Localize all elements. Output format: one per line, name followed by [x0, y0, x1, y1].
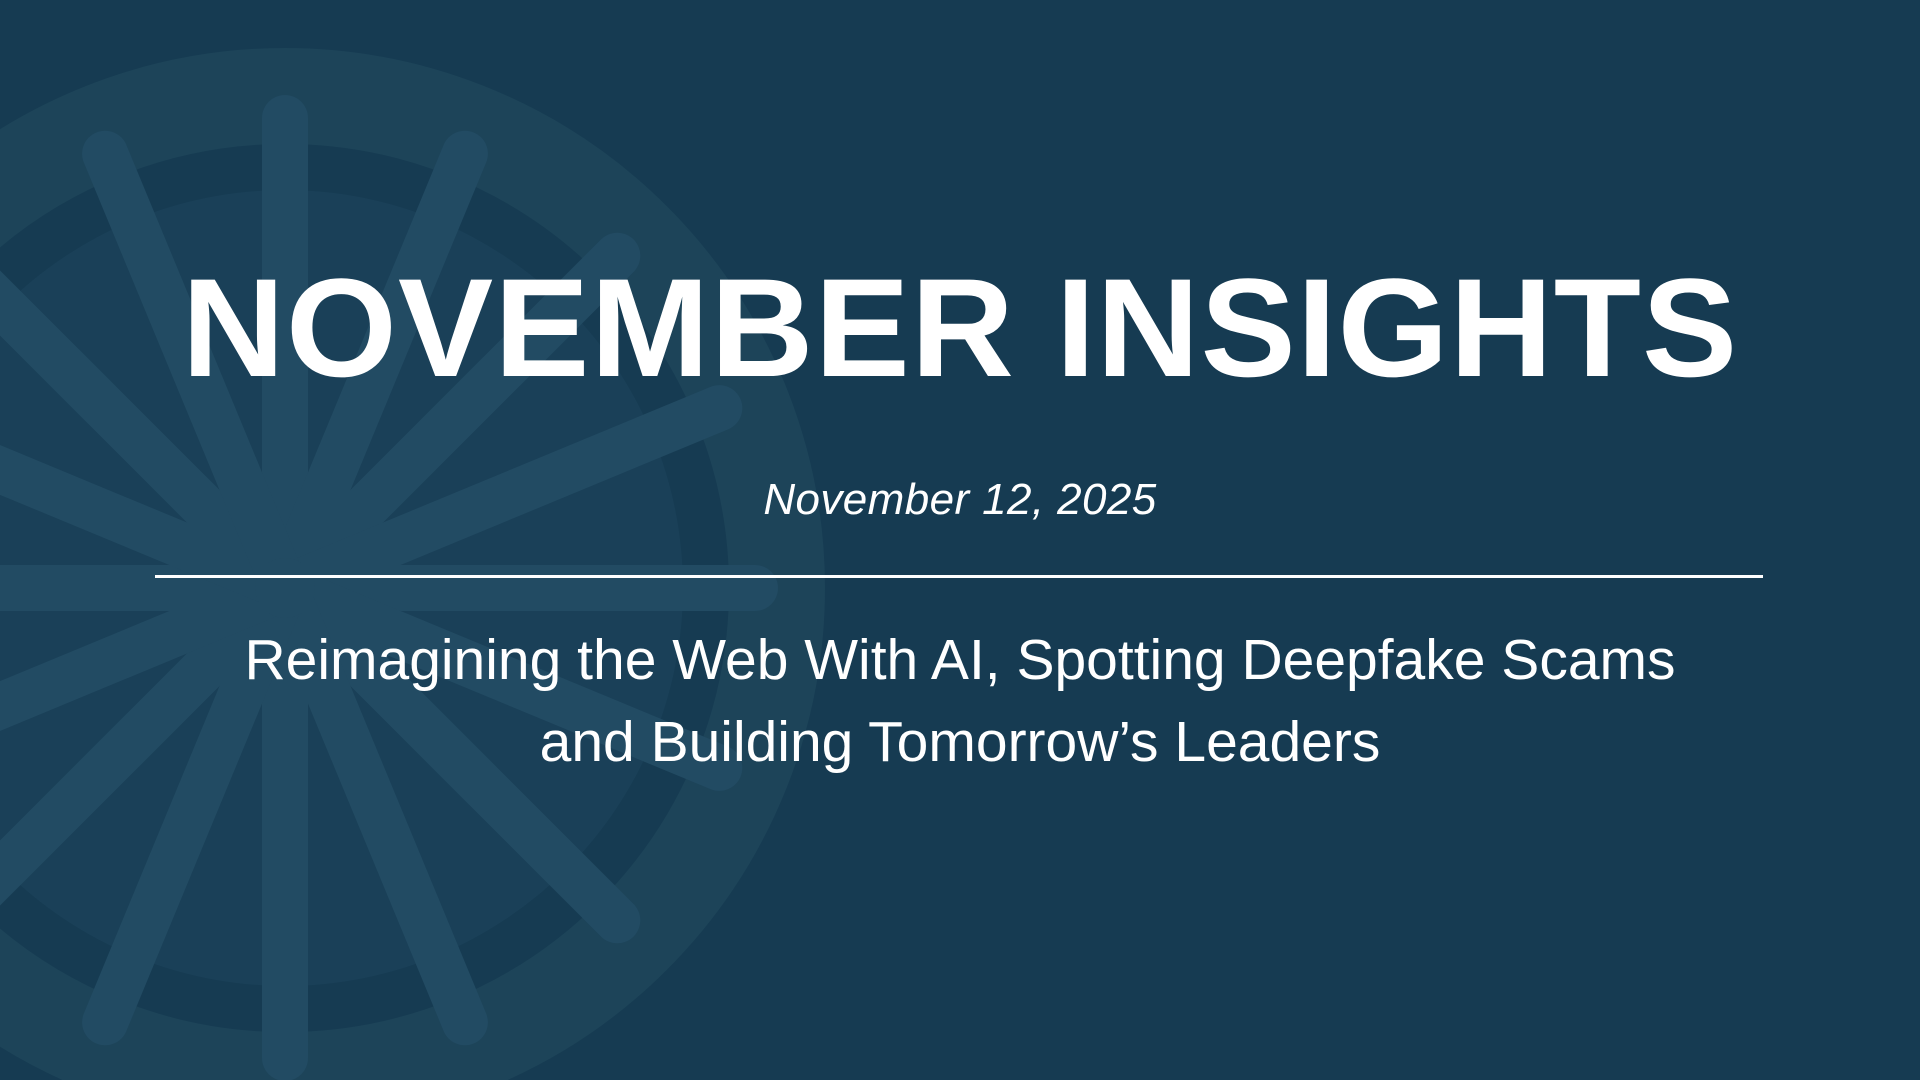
- page-title: NOVEMBER INSIGHTS: [0, 258, 1920, 398]
- title-slide: NOVEMBER INSIGHTS November 12, 2025 Reim…: [0, 0, 1920, 1080]
- slide-subtitle-line-1: Reimagining the Web With AI, Spotting De…: [150, 619, 1770, 701]
- slide-date: November 12, 2025: [0, 478, 1920, 522]
- slide-content: NOVEMBER INSIGHTS November 12, 2025 Reim…: [0, 0, 1920, 1080]
- slide-subtitle: Reimagining the Web With AI, Spotting De…: [150, 619, 1770, 783]
- divider: [155, 575, 1763, 578]
- slide-subtitle-line-2: and Building Tomorrow’s Leaders: [150, 701, 1770, 783]
